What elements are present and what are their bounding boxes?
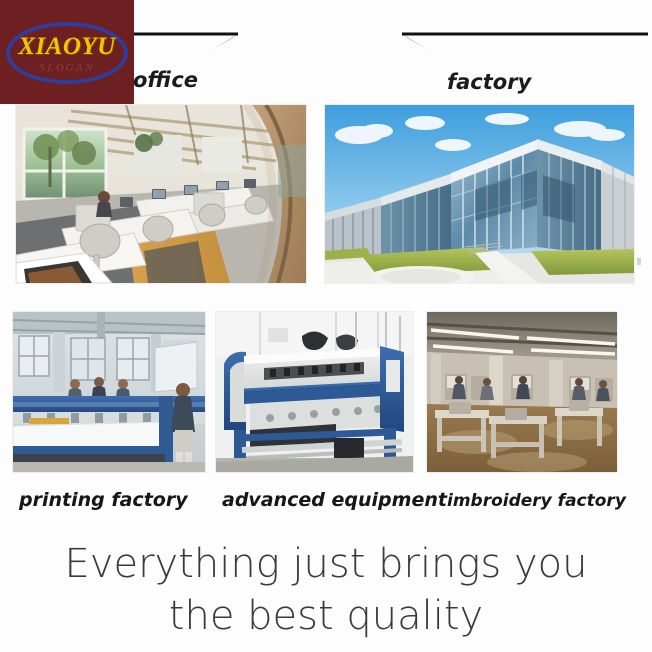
office-interior-photo: [16, 105, 306, 283]
imbroidery-factory-photo: [427, 312, 617, 472]
company-logo: XIAOYU SLOGAN: [0, 0, 134, 104]
tagline: Everything just brings you the best qual…: [0, 538, 652, 642]
logo-slogan: SLOGAN: [0, 62, 134, 74]
caption-advanced-equipment: advanced equipment: [222, 489, 447, 511]
factory-building-photo: [325, 105, 634, 283]
caption-imbroidery-factory: imbroidery factory: [447, 491, 626, 511]
logo-name: XIAOYU: [0, 33, 134, 61]
edge-speck: [637, 258, 641, 265]
arrow-left-pointer-icon: [388, 24, 650, 54]
tagline-line-1: Everything just brings you: [0, 538, 652, 590]
caption-office: office: [133, 68, 198, 92]
tagline-line-2: the best quality: [0, 590, 652, 642]
company-profile-banner: office factory: [0, 0, 652, 652]
caption-printing-factory: printing factory: [19, 489, 188, 511]
caption-factory: factory: [447, 70, 531, 94]
printing-factory-photo: [13, 312, 205, 472]
advanced-equipment-photo: [216, 312, 413, 472]
